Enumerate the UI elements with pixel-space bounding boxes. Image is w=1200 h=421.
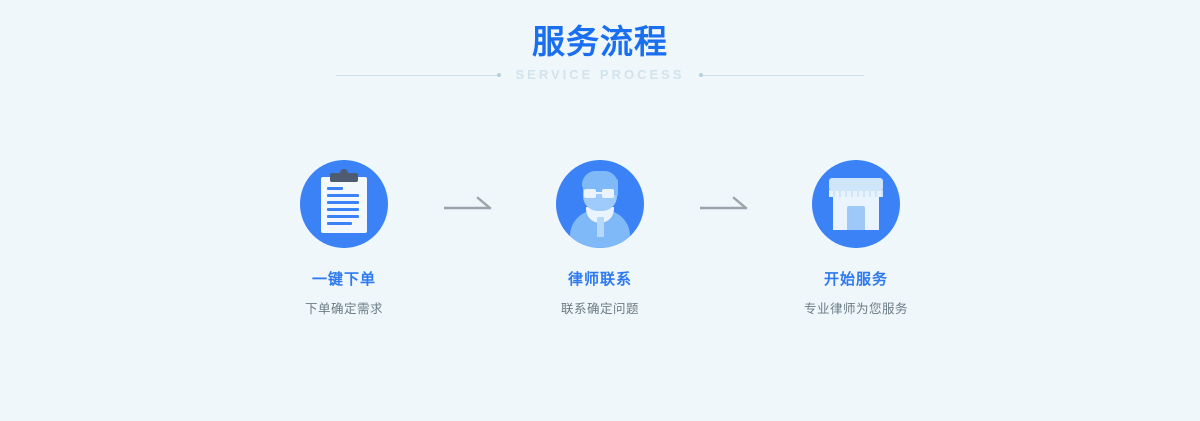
service-process-steps: 一键下单 下单确定需求 律师联系 联系确定问题: [0, 160, 1200, 318]
divider-dot: [699, 73, 703, 77]
clipboard-line: [327, 187, 343, 190]
step-title: 一键下单: [312, 270, 376, 290]
shop-awning-fringe: [829, 190, 883, 197]
shop-icon: [812, 160, 900, 248]
clipboard-line: [327, 194, 359, 197]
page-title: 服务流程: [0, 22, 1200, 62]
avatar-glasses-bridge: [596, 192, 602, 194]
step-description: 下单确定需求: [305, 300, 383, 318]
subtitle-row: SERVICE PROCESS: [0, 66, 1200, 84]
avatar-glasses-right: [602, 189, 614, 198]
step-service[interactable]: 开始服务 专业律师为您服务: [768, 160, 944, 318]
clipboard-clip-knob: [340, 169, 348, 177]
page-subtitle: SERVICE PROCESS: [515, 66, 684, 84]
divider-right: [699, 71, 864, 80]
arrow-right-2: [688, 160, 768, 248]
step-description: 专业律师为您服务: [804, 300, 908, 318]
divider-left: [336, 71, 501, 80]
shop-door: [847, 206, 865, 230]
divider-line: [699, 75, 864, 76]
divider-line: [336, 75, 501, 76]
step-title: 开始服务: [824, 270, 888, 290]
clipboard-icon: [300, 160, 388, 248]
step-description: 联系确定问题: [561, 300, 639, 318]
clipboard-line: [327, 215, 359, 218]
clipboard-line: [327, 222, 352, 225]
clipboard-line: [327, 201, 359, 204]
avatar-glasses-left: [584, 189, 596, 198]
step-contact[interactable]: 律师联系 联系确定问题: [512, 160, 688, 318]
lawyer-avatar-icon: [556, 160, 644, 248]
step-title: 律师联系: [568, 270, 632, 290]
arrow-right-1: [432, 160, 512, 248]
divider-dot: [497, 73, 501, 77]
section-header: 服务流程 SERVICE PROCESS: [0, 0, 1200, 100]
avatar-tie: [597, 217, 604, 237]
clipboard-line: [327, 208, 359, 211]
shop-awning: [829, 178, 883, 191]
step-order[interactable]: 一键下单 下单确定需求: [256, 160, 432, 318]
